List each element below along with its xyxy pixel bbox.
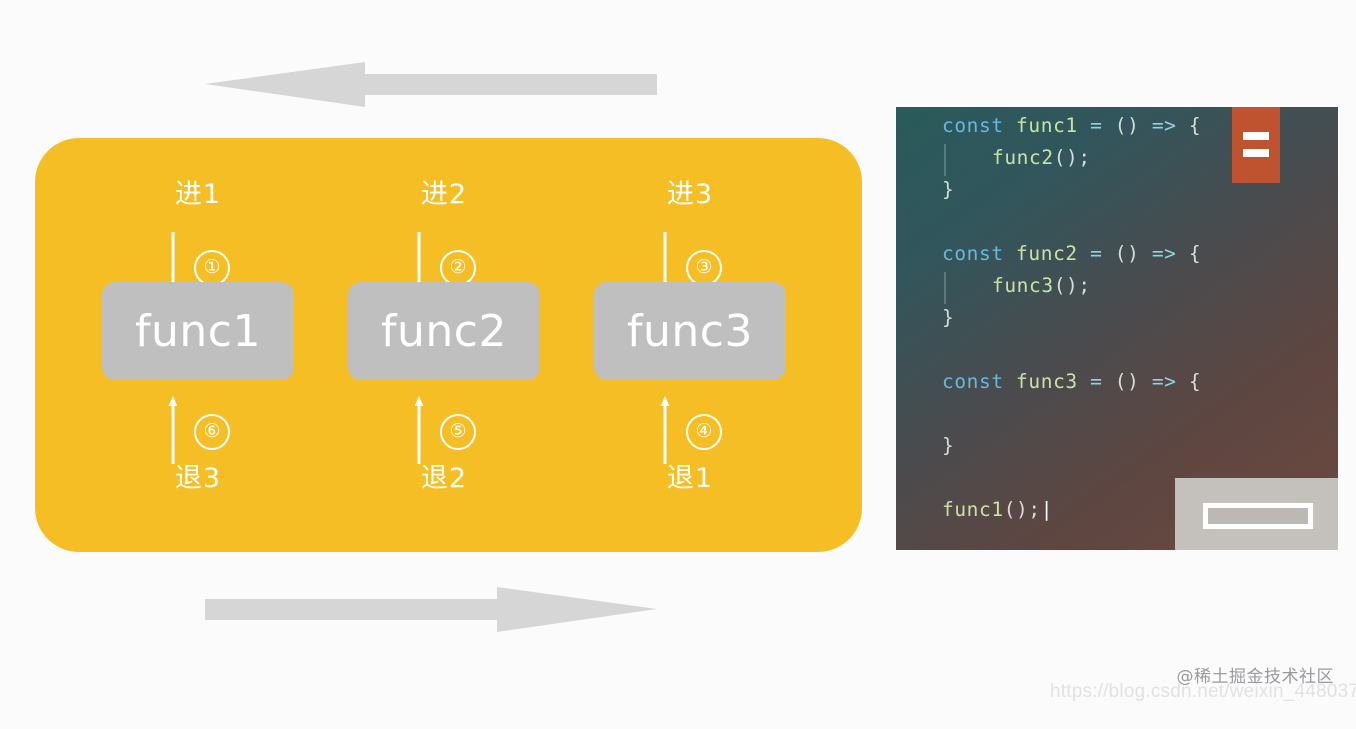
code-token-plain [1139,242,1151,265]
code-token-kw: const [942,242,1004,265]
code-token-plain [1177,114,1189,137]
code-token-brace: { [1189,242,1201,265]
code-token-plain [1139,114,1151,137]
func-box-func2: func2 [348,282,540,380]
pause-badge-overlay [1232,107,1280,183]
code-token-punct: () [1115,114,1140,137]
code-token-punct: () [1115,370,1140,393]
code-token-fn: func1 [1016,114,1078,137]
code-token-punct: (); [1054,146,1091,169]
code-line[interactable]: const func1 = () => { [942,116,1201,136]
exit-label-2: 退2 [344,465,544,492]
enter-step-number-3: ③ [686,250,722,286]
code-token-fn: func2 [1016,242,1078,265]
code-token-plain [1177,242,1189,265]
stack-column-func2: 进2 ② func2 ⑤ 退2 [344,138,544,552]
code-token-plain [1102,242,1114,265]
stack-column-func1: 进1 ① func1 ⑥ 退3 [98,138,298,552]
code-token-punct: (); [1054,274,1091,297]
code-token-kw: const [942,370,1004,393]
outlined-rect-overlay [1175,478,1338,550]
code-token-brace: } [942,434,954,457]
exit-step-number-2: ⑤ [440,414,476,450]
code-line[interactable]: } [942,180,954,200]
call-stack-panel: 进1 ① func1 ⑥ 退3 进2 [35,138,862,552]
exit-arrow-group-1: ⑥ [98,396,298,464]
stack-column-func3: 进3 ③ func3 ④ 退1 [590,138,790,552]
up-arrow-icon [168,396,178,464]
code-token-plain [1004,242,1016,265]
pause-bar-top [1243,132,1269,140]
code-token-plain [1177,370,1189,393]
watermark-handle: @稀土掘金技术社区 [1177,662,1335,687]
code-line[interactable]: const func3 = () => { [942,372,1201,392]
code-line[interactable]: func2(); [992,148,1091,168]
code-line[interactable]: const func2 = () => { [942,244,1201,264]
exit-label-3: 退1 [590,465,790,492]
pause-bar-bottom [1243,149,1269,157]
code-token-plain [1004,370,1016,393]
code-token-op: = [1090,242,1102,265]
diagram-canvas: 进1 ① func1 ⑥ 退3 进2 [0,0,1356,729]
enter-step-number-1: ① [194,250,230,286]
code-token-punct: () [1115,242,1140,265]
code-token-op: = [1090,370,1102,393]
code-token-fn: func3 [992,274,1054,297]
code-token-plain [1004,114,1016,137]
code-token-op: => [1152,114,1177,137]
up-arrow-icon [660,396,670,464]
exit-arrow-group-3: ④ [590,396,790,464]
code-token-brace: } [942,178,954,201]
code-token-plain [1102,114,1114,137]
code-token-plain [1078,242,1090,265]
code-token-op: => [1152,370,1177,393]
code-token-fn: func3 [1016,370,1078,393]
code-token-brace: } [942,306,954,329]
text-caret: | [1041,498,1053,521]
enter-label-2: 进2 [344,181,544,208]
code-line[interactable]: } [942,308,954,328]
up-arrow-icon [414,396,424,464]
indent-guide [944,144,946,176]
code-token-fn: func1 [942,498,1004,521]
code-token-plain [1139,370,1151,393]
func-box-func3: func3 [594,282,786,380]
left-pointing-arrow [205,58,657,110]
code-token-plain [1102,370,1114,393]
code-token-plain [1078,370,1090,393]
code-line[interactable]: } [942,436,954,456]
func-box-func1: func1 [102,282,294,380]
right-pointing-arrow [205,583,657,635]
code-token-kw: const [942,114,1004,137]
code-token-op: => [1152,242,1177,265]
enter-label-1: 进1 [98,181,298,208]
code-token-fn: func2 [992,146,1054,169]
enter-label-3: 进3 [590,181,790,208]
indent-guide [944,272,946,304]
code-token-brace: { [1189,370,1201,393]
exit-arrow-group-2: ⑤ [344,396,544,464]
exit-step-number-1: ⑥ [194,414,230,450]
exit-step-number-3: ④ [686,414,722,450]
overlay-outline-rect [1203,503,1313,529]
code-line[interactable]: func1();| [942,500,1053,520]
exit-label-1: 退3 [98,465,298,492]
code-token-plain [1078,114,1090,137]
code-line[interactable]: func3(); [992,276,1091,296]
code-token-brace: { [1189,114,1201,137]
code-token-punct: (); [1004,498,1041,521]
code-token-op: = [1090,114,1102,137]
enter-step-number-2: ② [440,250,476,286]
